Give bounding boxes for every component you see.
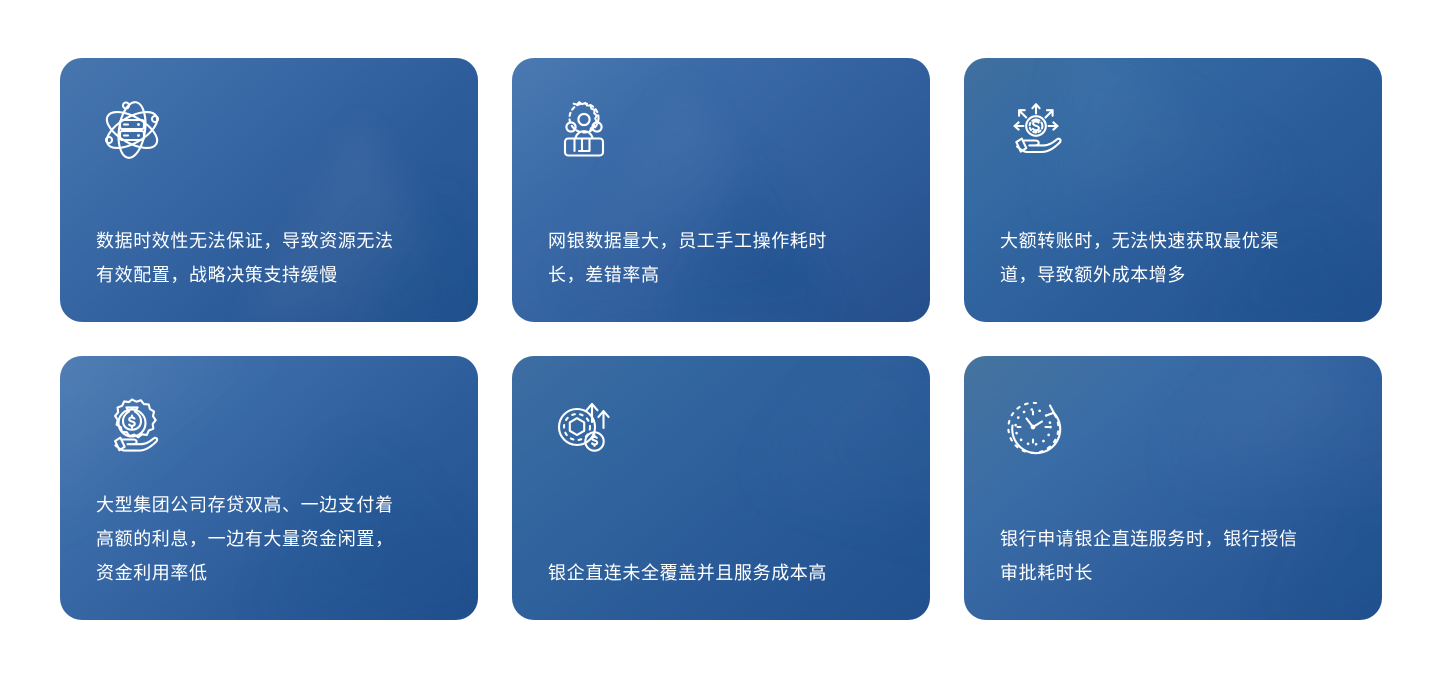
hand-coin-arrows-icon [1000, 94, 1072, 166]
card-description: 数据时效性无法保证，导致资源无法 有效配置，战略决策支持缓慢 [96, 224, 442, 292]
team-gear-icon [548, 94, 620, 166]
cards-grid: 数据时效性无法保证，导致资源无法 有效配置，战略决策支持缓慢 [60, 58, 1380, 620]
coin-growth-arrows-icon [548, 392, 620, 464]
card-content: 大型集团公司存贷双高、一边支付着 高额的利息，一边有大量资金闲置， 资金利用率低 [96, 392, 442, 590]
hand-moneybag-gear-icon [96, 392, 168, 464]
card-content: 网银数据量大，员工手工操作耗时 长，差错率高 [548, 94, 894, 292]
atom-database-icon [96, 94, 168, 166]
card-content: 银行申请银企直连服务时，银行授信 审批耗时长 [1000, 392, 1346, 590]
pain-point-card-4[interactable]: 大型集团公司存贷双高、一边支付着 高额的利息，一边有大量资金闲置， 资金利用率低 [60, 356, 478, 620]
card-content: 数据时效性无法保证，导致资源无法 有效配置，战略决策支持缓慢 [96, 94, 442, 292]
pain-point-card-2[interactable]: 网银数据量大，员工手工操作耗时 长，差错率高 [512, 58, 930, 322]
card-description: 大型集团公司存贷双高、一边支付着 高额的利息，一边有大量资金闲置， 资金利用率低 [96, 488, 442, 590]
card-content: 银企直连未全覆盖并且服务成本高 [548, 392, 894, 590]
clock-refresh-icon [1000, 392, 1072, 464]
pain-point-card-5[interactable]: 银企直连未全覆盖并且服务成本高 [512, 356, 930, 620]
pain-point-card-3[interactable]: 大额转账时，无法快速获取最优渠 道，导致额外成本增多 [964, 58, 1382, 322]
pain-point-card-1[interactable]: 数据时效性无法保证，导致资源无法 有效配置，战略决策支持缓慢 [60, 58, 478, 322]
cards-board: 数据时效性无法保证，导致资源无法 有效配置，战略决策支持缓慢 [0, 0, 1440, 676]
card-content: 大额转账时，无法快速获取最优渠 道，导致额外成本增多 [1000, 94, 1346, 292]
pain-point-card-6[interactable]: 银行申请银企直连服务时，银行授信 审批耗时长 [964, 356, 1382, 620]
card-description: 网银数据量大，员工手工操作耗时 长，差错率高 [548, 224, 894, 292]
card-description: 银行申请银企直连服务时，银行授信 审批耗时长 [1000, 522, 1346, 590]
card-description: 大额转账时，无法快速获取最优渠 道，导致额外成本增多 [1000, 224, 1346, 292]
card-description: 银企直连未全覆盖并且服务成本高 [548, 556, 894, 590]
